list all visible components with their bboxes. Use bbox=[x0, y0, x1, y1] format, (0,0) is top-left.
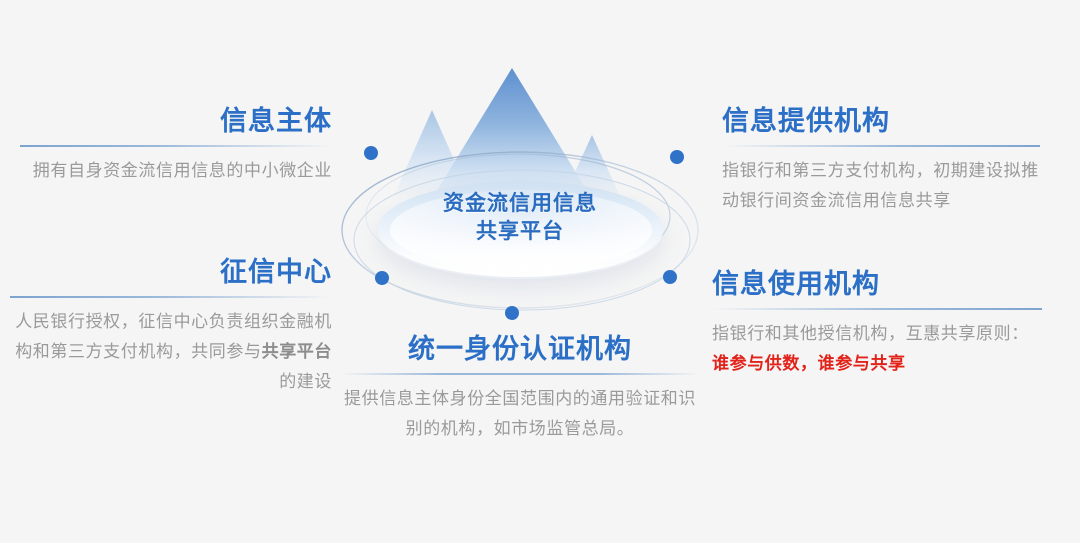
block-identity-auth-body: 提供信息主体身份全国范围内的通用验证和识别的机构，如市场监管总局。 bbox=[340, 384, 700, 444]
heading-rule bbox=[10, 296, 332, 298]
block-info-provider: 信息提供机构 指银行和第三方支付机构，初期建设拟推动银行间资金流信用信息共享 bbox=[722, 104, 1040, 216]
block-info-subject-body: 拥有自身资金流信用信息的中小微企业 bbox=[20, 156, 332, 186]
orbit-dot-upper-right bbox=[670, 150, 684, 164]
block-info-user: 信息使用机构 指银行和其他授信机构，互惠共享原则：谁参与供数，谁参与共享 bbox=[712, 267, 1042, 379]
orbit-dot-upper-left bbox=[364, 146, 378, 160]
diagram-canvas: 资金流信用信息 共享平台 信息主体 拥有自身资金流信用信息的中小微企业 征信中心… bbox=[0, 0, 1080, 543]
heading-rule bbox=[340, 373, 700, 375]
block-identity-auth: 统一身份认证机构 提供信息主体身份全国范围内的通用验证和识别的机构，如市场监管总… bbox=[340, 332, 700, 444]
body-text-part-2: 的建设 bbox=[279, 372, 332, 391]
body-text-highlight: 谁参与供数，谁参与共享 bbox=[712, 354, 906, 373]
orbit-dot-lower-right bbox=[663, 270, 677, 284]
block-credit-center-body: 人民银行授权，征信中心负责组织金融机构和第三方支付机构，共同参与共享平台的建设 bbox=[10, 307, 332, 397]
block-info-provider-body: 指银行和第三方支付机构，初期建设拟推动银行间资金流信用信息共享 bbox=[722, 156, 1040, 216]
heading-rule bbox=[722, 145, 1040, 147]
orbit-dot-lower-left bbox=[375, 271, 389, 285]
center-title-line-2: 共享平台 bbox=[330, 218, 710, 246]
center-title-line-1: 资金流信用信息 bbox=[330, 190, 710, 218]
heading-rule bbox=[20, 145, 332, 147]
orbit-dot-bottom bbox=[505, 306, 519, 320]
heading-rule bbox=[712, 308, 1042, 310]
block-info-user-heading: 信息使用机构 bbox=[712, 267, 1042, 301]
body-text-emphasis: 共享平台 bbox=[262, 342, 332, 361]
block-info-provider-heading: 信息提供机构 bbox=[722, 104, 1040, 138]
block-credit-center-heading: 征信中心 bbox=[10, 255, 332, 289]
block-identity-auth-heading: 统一身份认证机构 bbox=[340, 332, 700, 366]
block-info-subject-heading: 信息主体 bbox=[20, 104, 332, 138]
block-info-user-body: 指银行和其他授信机构，互惠共享原则：谁参与供数，谁参与共享 bbox=[712, 319, 1042, 379]
center-platform-title: 资金流信用信息 共享平台 bbox=[330, 190, 710, 246]
block-credit-center: 征信中心 人民银行授权，征信中心负责组织金融机构和第三方支付机构，共同参与共享平… bbox=[10, 255, 332, 397]
center-platform-graphic: 资金流信用信息 共享平台 bbox=[330, 40, 710, 340]
body-text-part-1: 指银行和其他授信机构，互惠共享原则： bbox=[712, 324, 1029, 343]
block-info-subject: 信息主体 拥有自身资金流信用信息的中小微企业 bbox=[20, 104, 332, 186]
